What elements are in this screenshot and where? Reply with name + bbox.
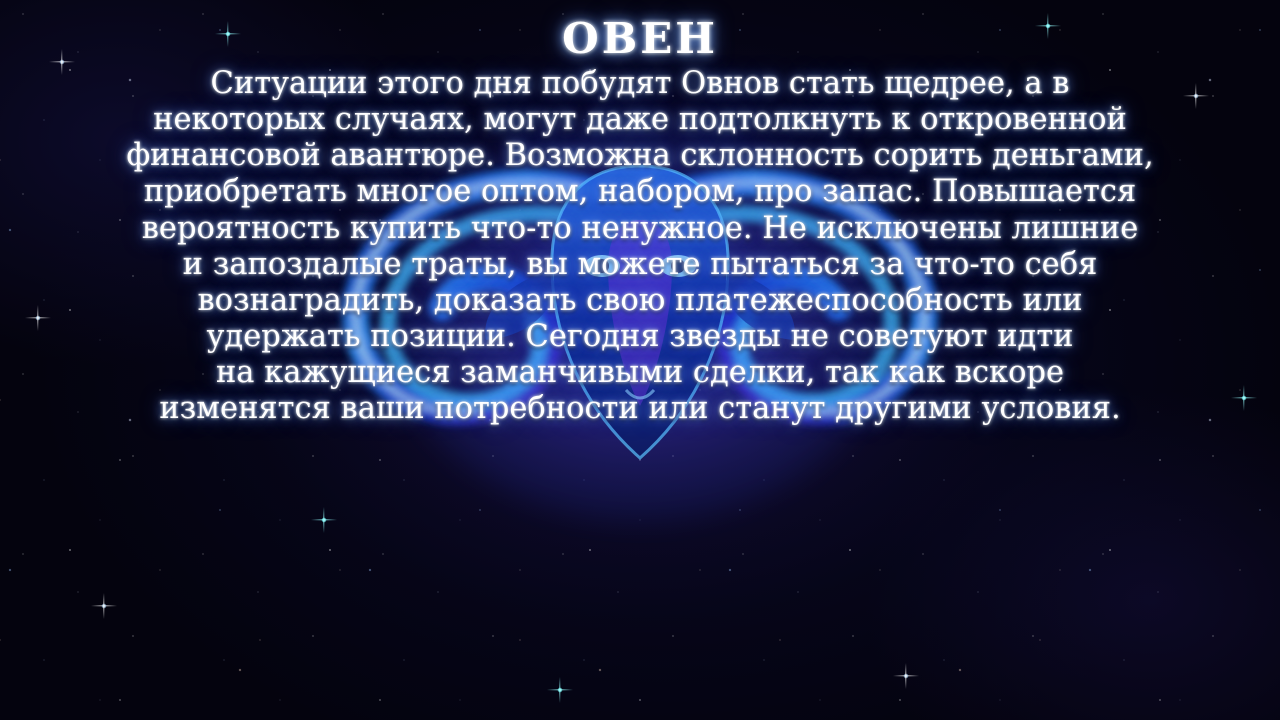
- zodiac-sign-title: ОВЕН: [562, 18, 718, 60]
- text-overlay: ОВЕН Ситуации этого дня побудят Овнов ст…: [0, 0, 1280, 720]
- horoscope-body-text: Ситуации этого дня побудят Овнов стать щ…: [25, 66, 1255, 427]
- horoscope-image: ОВЕН Ситуации этого дня побудят Овнов ст…: [0, 0, 1280, 720]
